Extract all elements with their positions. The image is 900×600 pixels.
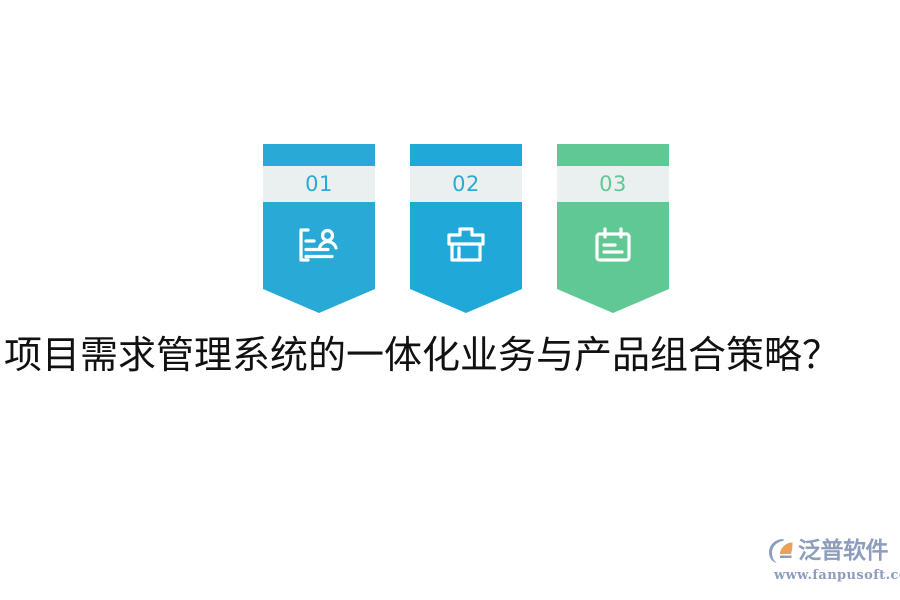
banner-number-label: 03 (599, 174, 627, 195)
banner-number-label: 01 (305, 174, 333, 195)
storefront-icon (410, 206, 522, 284)
banner-item-02[interactable]: 02 (410, 144, 522, 312)
banner-body: 01 (263, 144, 375, 289)
banner-group: 01 02 (263, 144, 673, 314)
banner-number-strip: 02 (410, 166, 522, 202)
banner-point (263, 289, 375, 313)
banner-point (557, 289, 669, 313)
banner-number-label: 02 (452, 174, 480, 195)
banner-item-01[interactable]: 01 (263, 144, 375, 312)
banner-body: 02 (410, 144, 522, 289)
banner-number-strip: 03 (557, 166, 669, 202)
page-canvas: 01 02 (0, 0, 900, 600)
banner-item-03[interactable]: 03 (557, 144, 669, 312)
page-title: 项目需求管理系统的一体化业务与产品组合策略？ (4, 328, 896, 382)
banner-body: 03 (557, 144, 669, 289)
notepad-calendar-icon (557, 206, 669, 284)
logo-row: 泛普软件 (766, 536, 896, 566)
fanpu-logo-mark-icon (766, 536, 796, 566)
banner-point (410, 289, 522, 313)
id-card-person-icon (263, 206, 375, 284)
logo-brand-name: 泛普软件 (798, 540, 888, 563)
brand-logo[interactable]: 泛普软件 www.fanpusoft.com (766, 536, 896, 584)
banner-number-strip: 01 (263, 166, 375, 202)
logo-website-url: www.fanpusoft.com (774, 568, 896, 583)
